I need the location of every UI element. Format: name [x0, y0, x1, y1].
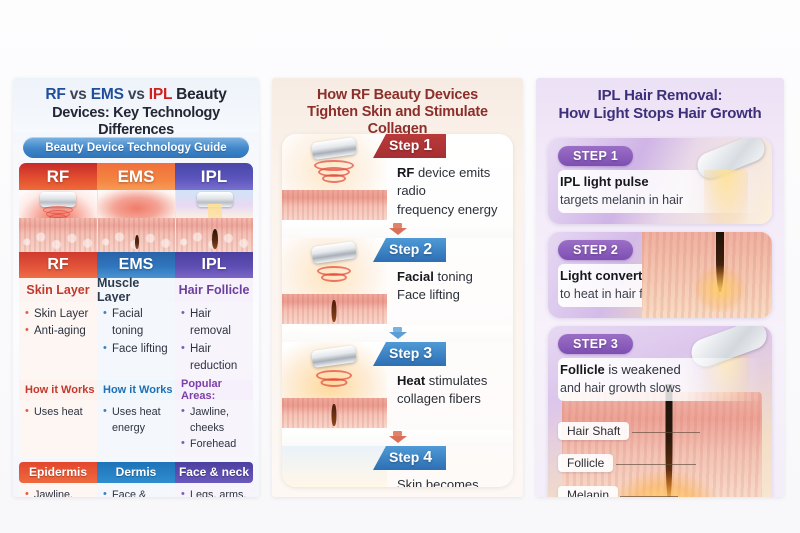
ipl-step-text-3: Follicle is weakened and hair growth slo…: [558, 358, 762, 401]
section-items-row: Uses heat Uses heat energy Jawline, chee…: [19, 400, 253, 458]
ipl-step1-sub: targets melanin in hair: [560, 193, 683, 207]
panel-comparison-table: RF vs EMS vs IPL Beauty Devices: Key Tec…: [13, 78, 259, 497]
ipl-step-card-3: STEP 3 Follicle is weakened and hair gro…: [548, 326, 772, 497]
step3-illustration: [282, 342, 387, 430]
panel-ipl-mechanism: IPL Hair Removal: How Light Stops Hair G…: [536, 78, 784, 497]
follicle-shape: [332, 300, 337, 322]
step2-rest: toning: [434, 269, 473, 284]
ipl-step3-bold-rest: is weakened: [605, 362, 681, 377]
step-row-3: Step 3 Heat stimulates collagen fibers: [282, 342, 513, 430]
ipl-hair-follicle: [212, 229, 218, 249]
layer-band-epidermis: Epidermis: [19, 462, 97, 483]
step2-line2: Face lifting: [397, 287, 460, 302]
band-rf: RF: [19, 252, 97, 278]
step1-text-block: Step 1 RF device emits radio frequency e…: [387, 134, 513, 222]
step1-line2: frequency energy: [397, 202, 497, 217]
section-label-ipl: Popular Areas:: [175, 380, 253, 400]
band-ipl: IPL: [175, 252, 253, 278]
list-item: Skin Layer: [25, 306, 92, 323]
ems-follicle-shape: [135, 235, 139, 249]
list-item: Uses heat: [25, 404, 92, 420]
ems-muscle-fibers: [98, 190, 175, 220]
section-label-row: How it Works How it Works Popular Areas:: [19, 380, 253, 400]
panel1-title-ipl: IPL: [149, 86, 172, 103]
panel1-title-vs-2: vs: [128, 86, 145, 103]
section-label-ems: How it Works: [97, 380, 175, 400]
panel1-title-ems: EMS: [91, 86, 124, 103]
step-row-2: Step 2 Facial toning Face lifting: [282, 238, 513, 326]
step-row-4: Step 4 Skin becomes firmer and smoother: [282, 446, 513, 487]
section-label-rf: How it Works: [19, 380, 97, 400]
list-item: Face & neck: [103, 487, 170, 497]
table-header-row: RF EMS IPL: [19, 163, 253, 190]
benefits-ipl: Hair removal Hair reduction: [175, 302, 253, 380]
down-arrow-icon: [389, 431, 407, 445]
step4-text-block: Step 4 Skin becomes firmer and smoother: [387, 446, 513, 487]
ipl-step-card-1: STEP 1 IPL light pulse targets melanin i…: [548, 138, 772, 224]
layer-band-row: Epidermis Dermis Face & neck: [19, 462, 253, 483]
list-item: Uses heat energy: [103, 404, 170, 436]
panel1-title-vs-1: vs: [70, 86, 87, 103]
areas-ipl: Legs, arms, Underarms: [175, 483, 253, 497]
beauty-device-technology-guide-bar: Beauty Device Technology Guide: [23, 137, 249, 158]
ipl-step3-bold: Follicle: [560, 362, 605, 377]
panel3-title-line1: IPL Hair Removal:: [544, 87, 776, 105]
step3-rest: stimulates: [425, 373, 487, 388]
panel1-title-rf: RF: [45, 86, 65, 103]
step2-bold: Facial: [397, 269, 434, 284]
step-badge-1-number: 1: [423, 137, 432, 154]
areas-row: Jawline, cheeks Face & neck Legs, arms, …: [19, 483, 253, 497]
list-item: Hair removal: [181, 306, 248, 341]
panel1-subtitle: Devices: Key Technology Differences: [21, 105, 251, 139]
step2-illustration: [282, 238, 387, 326]
step-badge-3-number: 3: [423, 345, 432, 362]
step1-illustration: [282, 134, 387, 222]
areas-rf: Jawline, cheeks: [19, 483, 97, 497]
ipl-step3-sub: and hair growth slows: [560, 381, 681, 395]
illustration-ipl-follicle: [175, 190, 253, 252]
leader-line-follicle: [616, 464, 696, 465]
list-item: Hair reduction: [181, 341, 248, 376]
rf-handpiece-icon: [311, 241, 357, 264]
follicle-shape: [332, 404, 337, 426]
step-badge-3-word: Step: [389, 345, 419, 361]
panel3-title: IPL Hair Removal: How Light Stops Hair G…: [536, 78, 784, 133]
ipl-step-card-2: STEP 2 Light converts to heat in hair fo…: [548, 232, 772, 318]
layer-band-dermis: Dermis: [97, 462, 175, 483]
rf-ring-3: [322, 174, 346, 183]
ipl-step-badge-3: STEP 3: [558, 334, 633, 354]
areas-ems: Face & neck: [97, 483, 175, 497]
ipl-step2-bold: Light converts: [560, 268, 650, 283]
column-header-ems: EMS: [97, 163, 175, 190]
arrow-wrap-1: [282, 222, 513, 238]
step3-text: Heat stimulates collagen fibers: [387, 366, 513, 409]
melanin-heat-glow: [609, 470, 719, 497]
list-item: Legs, arms,: [181, 487, 248, 497]
list-item: Forehead: [181, 436, 248, 452]
skin-cross-section-rf: [19, 218, 97, 252]
diagram-label-melanin: Melanin: [558, 486, 618, 497]
step-badge-2-word: Step: [389, 241, 419, 257]
illustration-row: [19, 190, 253, 252]
infographic-canvas: RF vs EMS vs IPL Beauty Devices: Key Tec…: [0, 0, 800, 533]
diagram-label-hair-shaft: Hair Shaft: [558, 422, 629, 440]
band-ems: EMS: [97, 252, 175, 278]
step1-bold: RF: [397, 165, 414, 180]
step-badge-2-number: 2: [423, 241, 432, 258]
layer-band-face-neck: Face & neck: [175, 462, 253, 483]
leader-line-hair-shaft: [632, 432, 700, 433]
rf-ring-2: [321, 378, 348, 387]
skin-layer-step1: [282, 190, 387, 220]
panel-rf-mechanism: How RF Beauty Devices Tighten Skin and S…: [272, 78, 523, 497]
ipl-light-beam: [704, 170, 748, 224]
step4-illustration: [282, 446, 387, 487]
target-ipl: Hair Follicle: [175, 278, 253, 302]
step3-line2: collagen fibers: [397, 391, 481, 406]
technology-band-row: RF EMS IPL: [19, 252, 253, 278]
step-badge-4-word: Step: [389, 449, 419, 465]
areas-rf-text: Jawline, cheeks: [34, 489, 73, 497]
rf-handpiece-icon: [311, 345, 357, 368]
step-badge-4-number: 4: [423, 449, 432, 466]
list-item: Face lifting: [103, 341, 170, 358]
benefits-rf: Skin Layer Anti-aging: [19, 302, 97, 380]
ipl-step-badge-2: STEP 2: [558, 240, 633, 260]
panel2-steps-card: Step 1 RF device emits radio frequency e…: [282, 134, 513, 487]
step-row-1: Step 1 RF device emits radio frequency e…: [282, 134, 513, 222]
step4-line1a: Skin becomes: [397, 477, 479, 487]
down-arrow-icon: [389, 327, 407, 341]
target-ems: Muscle Layer: [97, 278, 175, 302]
panel2-title-line1: How RF Beauty Devices: [280, 87, 515, 104]
section-items-rf: Uses heat: [19, 400, 97, 458]
step4-text: Skin becomes firmer and smoother: [387, 470, 513, 487]
leader-line-melanin: [620, 496, 678, 497]
panel1-title: RF vs EMS vs IPL Beauty Devices: Key Tec…: [13, 78, 259, 133]
rf-handpiece-icon: [311, 137, 357, 160]
panel1-title-beauty: Beauty: [176, 86, 226, 103]
list-item: Jawline, cheeks: [25, 487, 92, 497]
benefits-ems: Facial toning Face lifting: [97, 302, 175, 380]
rf-device-icon: [40, 192, 76, 207]
diagram-label-follicle: Follicle: [558, 454, 613, 472]
panel2-title: How RF Beauty Devices Tighten Skin and S…: [272, 78, 523, 130]
column-header-rf: RF: [19, 163, 97, 190]
step3-bold: Heat: [397, 373, 425, 388]
benefits-row: Skin Layer Anti-aging Facial toning Face…: [19, 302, 253, 380]
target-layer-row: Skin Layer Muscle Layer Hair Follicle: [19, 278, 253, 302]
ipl-step-badge-1: STEP 1: [558, 146, 633, 166]
section-items-ipl: Jawline, cheeks Forehead: [175, 400, 253, 458]
column-header-ipl: IPL: [175, 163, 253, 190]
list-item: Anti-aging: [25, 323, 92, 340]
heat-glow-step2: [694, 266, 746, 312]
target-rf: Skin Layer: [19, 278, 97, 302]
step-badge-1-word: Step: [389, 137, 419, 153]
arrow-wrap-3: [282, 430, 513, 446]
illustration-rf-skin: [19, 190, 97, 252]
step1-text: RF device emits radio frequency energy: [387, 158, 513, 219]
down-arrow-icon: [389, 223, 407, 237]
list-item: Jawline, cheeks: [181, 404, 248, 436]
panel3-title-line2: How Light Stops Hair Growth: [544, 105, 776, 123]
ipl-step1-bold: IPL light pulse: [560, 174, 649, 189]
step2-text-block: Step 2 Facial toning Face lifting: [387, 238, 513, 326]
step3-text-block: Step 3 Heat stimulates collagen fibers: [387, 342, 513, 430]
section-items-ems: Uses heat energy: [97, 400, 175, 458]
arrow-wrap-2: [282, 326, 513, 342]
list-item: Facial toning: [103, 306, 170, 341]
illustration-ems-muscle: [97, 190, 175, 252]
step2-text: Facial toning Face lifting: [387, 262, 513, 305]
rf-ring-2: [321, 273, 347, 282]
